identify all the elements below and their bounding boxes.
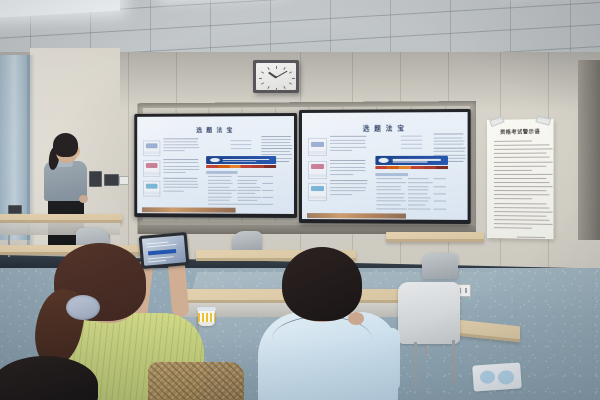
slide-sidebar-logo xyxy=(311,142,324,147)
mask-pleat-right xyxy=(498,370,515,385)
poster-text-line xyxy=(494,186,553,187)
clock-tick xyxy=(284,86,286,89)
slide-table-row-line xyxy=(208,190,237,191)
slide-table-row-line xyxy=(408,193,427,194)
chair-leg xyxy=(414,342,417,388)
av-control-panel-3[interactable] xyxy=(119,176,129,185)
slide-text-line xyxy=(163,144,198,145)
slide-table-row-line xyxy=(377,186,401,187)
slide-text-line xyxy=(163,141,197,142)
slide-text-line xyxy=(163,187,198,188)
slide-text-line xyxy=(433,144,463,145)
slide-text-line xyxy=(163,159,198,160)
slide-text-line xyxy=(261,148,291,149)
presenter-hair xyxy=(53,133,78,157)
slide-segment xyxy=(206,165,217,168)
slide-table-row-line xyxy=(408,182,432,183)
slide-text-line xyxy=(330,183,368,184)
screen-glare-reflection xyxy=(307,213,406,219)
poster-text-line xyxy=(494,223,553,225)
discarded-face-mask xyxy=(472,362,522,391)
clock-tick xyxy=(261,82,264,84)
slide-banner-icon xyxy=(379,158,389,163)
slide-table-row-line xyxy=(408,190,428,191)
slide-table-row-line xyxy=(434,186,446,187)
slide-segment xyxy=(424,166,436,169)
slide-table-row-line xyxy=(262,183,273,184)
slide-table-row-line xyxy=(434,201,446,202)
slide-text-line xyxy=(261,142,289,143)
slide-text-line xyxy=(330,143,365,144)
classroom-photo: 选 题 法 宝 选 题 法 宝 资格考试警示语 xyxy=(0,0,600,400)
poster-text-line xyxy=(494,144,550,146)
slide-table-header xyxy=(375,173,408,176)
desk-back-left xyxy=(0,214,122,223)
slide-segment xyxy=(411,166,423,169)
poster-text-line xyxy=(494,149,553,151)
slide-text-line xyxy=(163,184,198,185)
slide-segment xyxy=(229,165,241,168)
slide-table-row-line xyxy=(377,182,406,183)
poster-title: 资格考试警示语 xyxy=(487,128,554,136)
poster-text-line xyxy=(494,161,553,162)
slide-text-line xyxy=(261,139,291,140)
slide-table-row-line xyxy=(208,180,231,181)
chair-leg xyxy=(452,340,455,384)
poster-text-line xyxy=(494,182,550,183)
slide-segment xyxy=(375,166,387,169)
woven-straw-bag xyxy=(148,362,244,400)
wall-clock xyxy=(253,60,299,93)
clock-face xyxy=(256,63,296,90)
clock-tick xyxy=(289,71,292,73)
slide-title-right: 选 题 法 宝 xyxy=(302,122,468,133)
slide-table-row-line xyxy=(238,183,257,184)
front-right-attendee xyxy=(252,250,402,400)
poster-text-line xyxy=(494,203,546,204)
gray-scrunchie xyxy=(66,295,100,320)
slide-table-row-line xyxy=(434,178,446,179)
attendee2-hand xyxy=(348,312,364,325)
slide-banner-icon xyxy=(210,158,220,163)
slide-text-line xyxy=(163,162,198,163)
slide-text-line xyxy=(261,151,289,152)
slide-table-row-line xyxy=(238,200,258,201)
slide-text-line xyxy=(330,170,366,171)
poster-text-line xyxy=(494,153,546,154)
slide-sidebar-logo xyxy=(145,183,157,188)
mask-pleat-left xyxy=(480,370,496,384)
slide-segment-bar xyxy=(206,165,275,168)
slide-table-header xyxy=(206,171,237,174)
right-display-surface: 选 题 法 宝 xyxy=(302,112,468,220)
clock-tick xyxy=(276,66,277,69)
slide-sidebar-box xyxy=(143,140,161,156)
poster-text-line xyxy=(494,165,546,166)
slide-table-row-line xyxy=(238,203,263,204)
slide-table-row-line xyxy=(238,180,257,181)
slide-table-row-line xyxy=(238,197,261,198)
slide-text-line xyxy=(330,194,353,195)
poster-text-line xyxy=(494,170,532,171)
phone-screen-line xyxy=(147,244,177,248)
presenter-hand xyxy=(79,195,88,203)
slide-table-row-line xyxy=(434,208,446,209)
slide-text-line xyxy=(433,141,465,142)
slide-text-line xyxy=(330,160,365,161)
poster-text-line xyxy=(494,178,546,179)
slide-segment xyxy=(387,166,399,169)
attendee3-hair xyxy=(0,356,98,400)
phone-screen-line xyxy=(148,260,166,263)
slide-banner xyxy=(206,156,275,164)
slide-text-line xyxy=(163,138,198,139)
av-control-panel-2[interactable] xyxy=(104,174,119,186)
slide-text-line xyxy=(163,169,198,170)
slide-table-row-line xyxy=(208,183,232,184)
slide-banner-text-line xyxy=(392,161,427,163)
slide-text-line xyxy=(163,172,185,173)
slide-segment xyxy=(264,165,276,168)
slide-sidebar-logo xyxy=(311,164,324,169)
slide-sidebar-caption xyxy=(144,192,160,195)
slide-text-line xyxy=(261,145,291,146)
attendee1-arm-left xyxy=(168,258,190,317)
slide-text-line xyxy=(433,151,464,152)
ceiling-light xyxy=(0,0,120,19)
bottom-left-attendee xyxy=(0,356,98,400)
slide-banner xyxy=(375,156,448,165)
slide-table-row-line xyxy=(208,200,230,201)
clock-tick xyxy=(292,78,295,79)
poster-text-line xyxy=(494,211,553,213)
slide-table-row-line xyxy=(208,197,231,198)
poster-text-line xyxy=(494,190,546,191)
slide-segment xyxy=(436,166,448,169)
slide-title-left: 选 题 法 宝 xyxy=(137,125,294,135)
slide-table-row-line xyxy=(377,193,405,194)
slide-table-row-line xyxy=(262,197,273,198)
wall-poster: 资格考试警示语 xyxy=(487,119,554,239)
slide-table-row-line xyxy=(262,176,273,177)
slide-sidebar-logo xyxy=(145,163,157,168)
slide-formula-block xyxy=(231,137,251,150)
slide-sidebar-box xyxy=(143,180,161,196)
poster-text-line xyxy=(494,215,546,217)
poster-text-line xyxy=(494,198,532,199)
phone-screen-banner xyxy=(148,249,176,255)
outlet-slot-right xyxy=(465,288,467,293)
slide-sidebar-caption xyxy=(309,196,326,199)
poster-text-line xyxy=(494,194,550,195)
poster-text-line xyxy=(494,227,532,229)
attendee2-hair xyxy=(282,247,362,321)
slide-text-line xyxy=(163,147,199,148)
slide-text-line xyxy=(330,190,366,191)
slide-sidebar-logo xyxy=(311,186,324,191)
slide-text-line xyxy=(330,167,366,168)
slide-sidebar-caption xyxy=(144,151,160,154)
clock-tick xyxy=(261,71,264,73)
slide-segment xyxy=(252,165,264,168)
left-display-surface: 选 题 法 宝 xyxy=(137,116,294,214)
slide-segment xyxy=(218,165,230,168)
wall-switch[interactable] xyxy=(8,205,22,214)
slide-text-line xyxy=(330,150,352,151)
slide-table-row-line xyxy=(238,186,261,187)
smartphone[interactable] xyxy=(139,232,190,269)
slide-sidebar-caption xyxy=(144,172,160,175)
slide-table-row-line xyxy=(408,205,425,206)
slide-text-line xyxy=(163,151,184,152)
slide-text-line xyxy=(330,147,367,148)
clock-tick xyxy=(267,67,269,70)
slide-table-row-line xyxy=(377,197,404,198)
slide-table-row-line xyxy=(377,178,403,179)
poster-text-line xyxy=(494,157,550,158)
slide-table-row-line xyxy=(434,193,446,194)
slide-formula-block xyxy=(401,135,423,149)
clock-minute-hand xyxy=(276,70,288,78)
screen-glare-reflection xyxy=(142,207,236,212)
slide-text-line xyxy=(330,163,366,164)
chair-back-2[interactable] xyxy=(232,231,262,252)
slide-sidebar-box xyxy=(308,138,327,156)
chair-front-right[interactable] xyxy=(398,282,460,344)
clock-tick xyxy=(276,88,277,91)
right-display[interactable]: 选 题 法 宝 xyxy=(299,109,471,224)
poster-text-line xyxy=(494,207,550,209)
clock-center-pin xyxy=(275,76,277,78)
slide-text-line xyxy=(330,180,367,181)
slide-table-row-line xyxy=(238,190,260,191)
slide-text-line xyxy=(163,181,196,182)
slide-table-row-line xyxy=(377,208,407,209)
slide-table-row-line xyxy=(208,186,230,187)
slide-table-row-line xyxy=(208,193,232,194)
door-frame xyxy=(578,60,600,240)
slide-table-row-line xyxy=(262,204,273,205)
desk-edge xyxy=(386,239,484,242)
slide-sidebar-box xyxy=(143,160,161,176)
clock-tick xyxy=(259,78,262,79)
poster-signature-line xyxy=(517,237,545,239)
slide-segment-bar xyxy=(375,166,448,169)
slide-sidebar-caption xyxy=(309,151,326,154)
slide-text-line xyxy=(433,134,464,135)
slide-table-row-line xyxy=(262,190,273,191)
left-display[interactable]: 选 题 法 宝 xyxy=(134,113,297,218)
slide-banner-text-line xyxy=(223,161,256,163)
slide-table-row-line xyxy=(408,201,428,202)
clock-tick xyxy=(284,67,286,70)
poster-text-line xyxy=(494,140,532,141)
slide-text-line xyxy=(433,137,463,138)
clock-tick xyxy=(267,86,269,89)
poster-text-line xyxy=(494,219,550,221)
slide-text-line xyxy=(163,166,198,167)
slide-table-row-line xyxy=(208,203,238,204)
slide-table-row-line xyxy=(377,190,402,191)
poster-text-line xyxy=(494,174,553,175)
slide-text-line xyxy=(330,187,367,188)
slide-text-line xyxy=(261,136,291,137)
slide-sidebar-box xyxy=(308,161,327,179)
phone-screen xyxy=(142,235,186,266)
slide-sidebar-logo xyxy=(145,143,157,148)
slide-segment xyxy=(241,165,253,168)
slide-table-row-line xyxy=(208,176,232,177)
slide-table-row-line xyxy=(408,186,428,187)
desk-mid-right xyxy=(386,232,484,242)
slide-table-row-line xyxy=(408,208,430,209)
slide-text-line xyxy=(330,174,354,175)
chair-back-3[interactable] xyxy=(422,253,458,279)
slide-table-row-line xyxy=(238,193,256,194)
slide-table-row-line xyxy=(377,204,401,205)
slide-segment xyxy=(399,166,411,169)
slide-table-row-line xyxy=(408,178,428,179)
bag-weave-texture xyxy=(148,362,244,400)
clock-tick xyxy=(289,82,292,84)
slide-text-line xyxy=(163,178,197,179)
slide-text-line xyxy=(330,140,365,141)
slide-text-line xyxy=(163,190,183,191)
slide-sidebar-box xyxy=(308,183,327,201)
slide-sidebar-caption xyxy=(309,174,326,177)
slide-table-row-line xyxy=(408,197,431,198)
slide-text-line xyxy=(330,136,367,137)
phone-screen-line xyxy=(148,256,174,259)
slide-table-row-line xyxy=(238,176,263,177)
slide-text-line xyxy=(433,147,465,148)
slide-table-row-line xyxy=(377,201,406,202)
